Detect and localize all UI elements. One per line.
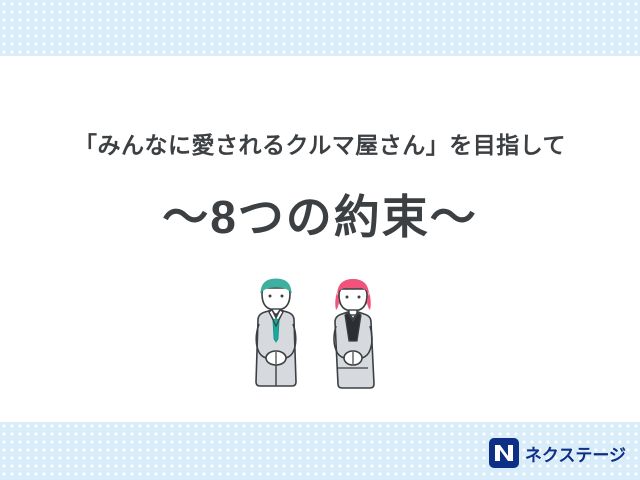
female-staff-bowing <box>334 279 374 388</box>
headline-text: 「みんなに愛されるクルマ屋さん」を目指して <box>0 126 640 160</box>
nextage-n-logo-icon <box>489 438 519 468</box>
male-staff-bowing <box>256 279 296 386</box>
nextage-logo: ネクステージ <box>489 438 626 468</box>
subheadline-text: 〜8つの約束〜 <box>0 181 640 247</box>
nextage-logo-text: ネクステージ <box>525 441 626 466</box>
two-bowing-staff-illustration <box>228 272 414 422</box>
promo-slide: 「みんなに愛されるクルマ屋さん」を目指して 〜8つの約束〜 <box>0 0 640 480</box>
top-dotted-band <box>0 0 640 56</box>
